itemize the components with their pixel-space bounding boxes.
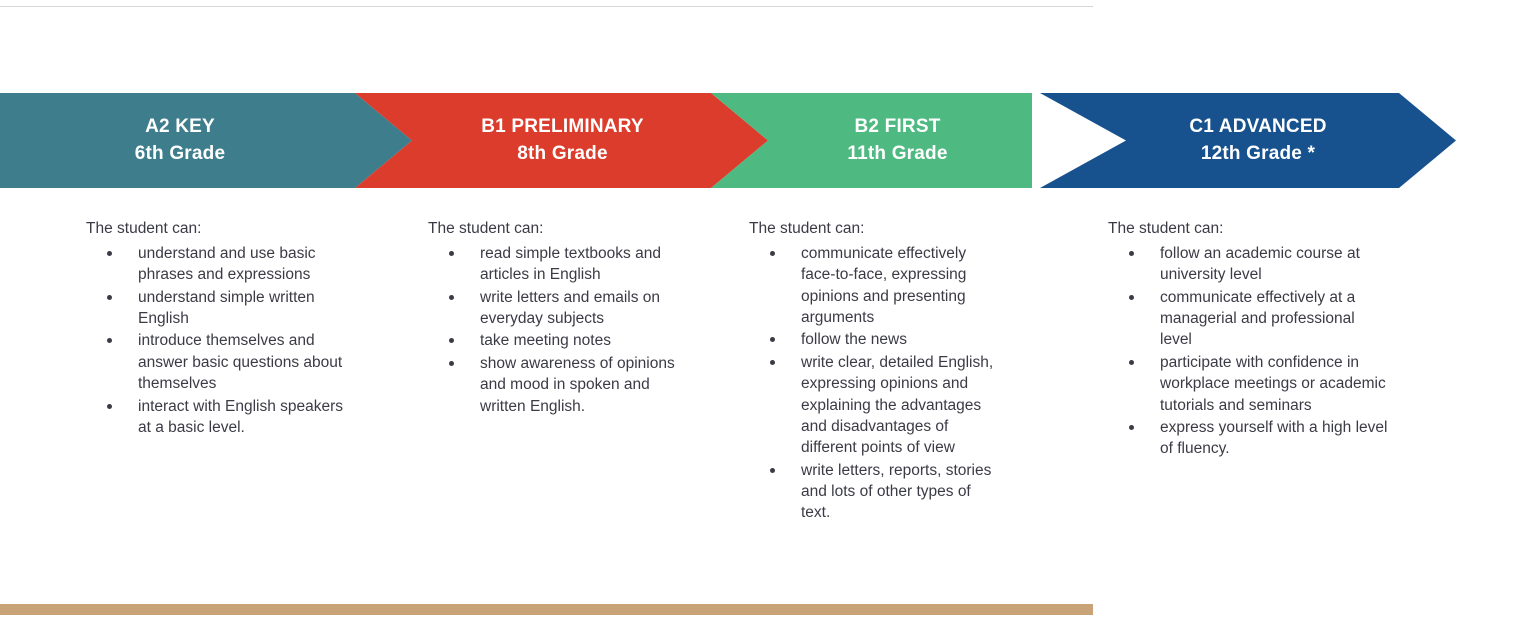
list-item: write clear, detailed English, expressin…	[770, 352, 999, 459]
description-column-c1-advanced: The student can: follow an academic cour…	[1108, 219, 1388, 461]
stage-label-c1-advanced: C1 ADVANCED 12th Grade *	[1189, 114, 1326, 168]
stage-label-a2-key: A2 KEY 6th Grade	[135, 114, 226, 168]
can-do-list: understand and use basic phrases and exp…	[86, 243, 356, 438]
column-heading: The student can:	[428, 219, 678, 240]
stage-chevron-a2-key: A2 KEY 6th Grade	[0, 93, 412, 188]
list-item: understand simple written English	[107, 287, 356, 330]
can-do-list: communicate effectively face-to-face, ex…	[749, 243, 999, 524]
bottom-accent-rule	[0, 604, 1093, 615]
description-column-b1-preliminary: The student can: read simple textbooks a…	[428, 219, 678, 418]
list-item: communicate effectively face-to-face, ex…	[770, 243, 999, 329]
list-item: communicate effectively at a managerial …	[1129, 287, 1388, 351]
list-item: introduce themselves and answer basic qu…	[107, 330, 356, 394]
stage-description-columns: The student can: understand and use basi…	[0, 219, 1536, 559]
list-item: follow an academic course at university …	[1129, 243, 1388, 286]
stage-label-b2-first: B2 FIRST 11th Grade	[847, 114, 947, 168]
stage-chevron-b1-preliminary: B1 PRELIMINARY 8th Grade	[355, 93, 768, 188]
list-item: participate with confidence in workplace…	[1129, 352, 1388, 416]
stage-label-b1-preliminary: B1 PRELIMINARY 8th Grade	[481, 114, 644, 168]
cefr-level-progression-band: A2 KEY 6th Grade B1 PRELIMINARY 8th Grad…	[0, 93, 1536, 188]
list-item: follow the news	[770, 329, 999, 350]
column-heading: The student can:	[749, 219, 999, 240]
can-do-list: read simple textbooks and articles in En…	[428, 243, 678, 417]
description-column-b2-first: The student can: communicate effectively…	[749, 219, 999, 525]
list-item: write letters and emails on everyday sub…	[449, 287, 678, 330]
list-item: express yourself with a high level of fl…	[1129, 417, 1388, 460]
description-column-a2-key: The student can: understand and use basi…	[86, 219, 356, 439]
list-item: read simple textbooks and articles in En…	[449, 243, 678, 286]
list-item: take meeting notes	[449, 330, 678, 351]
column-heading: The student can:	[1108, 219, 1388, 240]
stage-chevron-c1-advanced: C1 ADVANCED 12th Grade *	[1040, 93, 1456, 188]
list-item: interact with English speakers at a basi…	[107, 396, 356, 439]
list-item: understand and use basic phrases and exp…	[107, 243, 356, 286]
list-item: show awareness of opinions and mood in s…	[449, 353, 678, 417]
top-divider-rule	[0, 6, 1093, 7]
list-item: write letters, reports, stories and lots…	[770, 460, 999, 524]
column-heading: The student can:	[86, 219, 356, 240]
can-do-list: follow an academic course at university …	[1108, 243, 1388, 460]
